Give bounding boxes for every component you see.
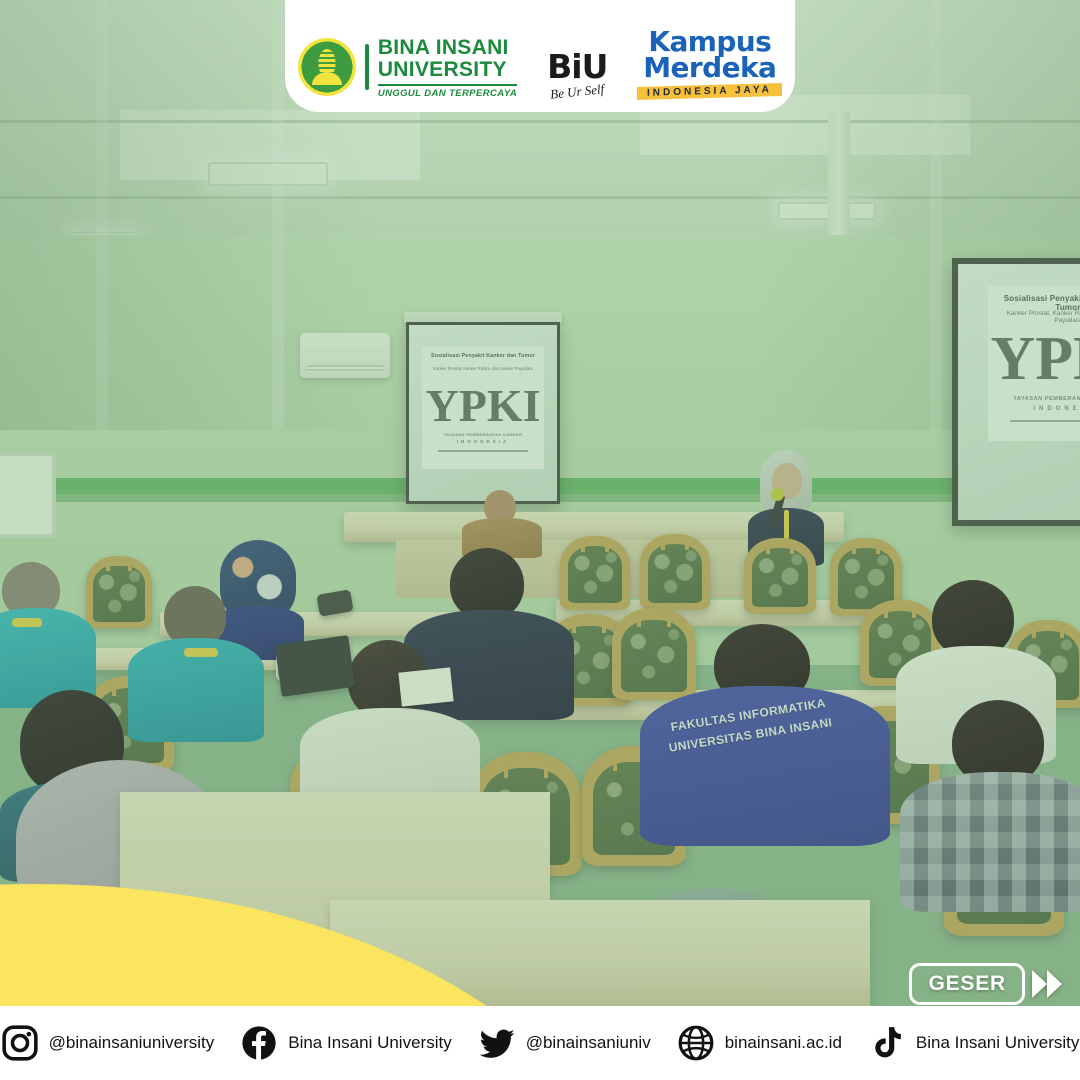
social-twitter[interactable]: @binainsaniuniv bbox=[478, 1024, 651, 1062]
university-logo: BINA INSANI UNIVERSITY UNGGUL DAN TERPER… bbox=[298, 37, 517, 99]
instagram-handle: @binainsaniuniversity bbox=[49, 1033, 215, 1053]
ypki-logo-sub2: INDONESIA bbox=[422, 439, 544, 444]
ypki-logo-sub1: YAYASAN PEMBERANTAS KANKER bbox=[988, 396, 1080, 402]
twitter-icon[interactable] bbox=[478, 1024, 516, 1062]
facebook-handle: Bina Insani University bbox=[288, 1033, 451, 1053]
university-wordmark: BINA INSANI UNIVERSITY UNGGUL DAN TERPER… bbox=[378, 37, 517, 99]
twitter-handle: @binainsaniuniv bbox=[526, 1033, 651, 1053]
chevron-right-icon bbox=[1032, 970, 1047, 998]
slide-title: Sosialisasi Penyakit Kanker dan Tumor bbox=[427, 354, 539, 360]
social-media-post: Sosialisasi Penyakit Kanker dan Tumor Ka… bbox=[0, 0, 1080, 1080]
header-logo-card: BINA INSANI UNIVERSITY UNGGUL DAN TERPER… bbox=[285, 0, 795, 112]
facebook-icon[interactable] bbox=[240, 1024, 278, 1062]
social-instagram[interactable]: @binainsaniuniversity bbox=[1, 1024, 215, 1062]
slide-divider bbox=[1010, 420, 1080, 422]
social-facebook[interactable]: Bina Insani University bbox=[240, 1024, 451, 1062]
bina-insani-crest-icon bbox=[298, 38, 356, 96]
kampus-merdeka-line2: Merdeka bbox=[637, 55, 782, 81]
website-url: binainsani.ac.id bbox=[725, 1033, 842, 1053]
tiktok-icon[interactable] bbox=[868, 1024, 906, 1062]
projection-screen-right: Sosialisasi Penyakit Kanker dan Tumor Ka… bbox=[952, 258, 1080, 526]
audience-person bbox=[900, 700, 1080, 900]
biu-wordmark: BiU bbox=[547, 50, 607, 83]
chevron-right-icon bbox=[1047, 970, 1062, 998]
social-website[interactable]: binainsani.ac.id bbox=[677, 1024, 842, 1062]
swipe-cta[interactable]: GESER bbox=[909, 963, 1062, 1005]
banquet-chair bbox=[744, 538, 816, 614]
audience-person-jacket: FAKULTAS INFORMATIKA UNIVERSITAS BINA IN… bbox=[640, 624, 890, 834]
university-name-line1: BINA INSANI bbox=[378, 37, 517, 58]
air-conditioner bbox=[300, 333, 390, 378]
instagram-icon[interactable] bbox=[1, 1024, 39, 1062]
kampus-merdeka-banner: INDONESIA JAYA bbox=[637, 83, 782, 100]
university-tagline: UNGGUL DAN TERPERCAYA bbox=[378, 84, 517, 99]
ypki-logo-text: YPKI bbox=[422, 385, 544, 426]
logo-divider bbox=[365, 44, 369, 90]
ypki-logo-sub1: YAYASAN PEMBERANTAS KANKER bbox=[422, 432, 544, 437]
ypki-logo-sub2: INDONESIA bbox=[988, 406, 1080, 412]
audience-person-teal bbox=[0, 562, 96, 702]
presentation-slide: Sosialisasi Penyakit Kanker dan Tumor Ka… bbox=[422, 347, 544, 469]
ypki-logo-text: YPKI bbox=[988, 332, 1080, 388]
lanyard bbox=[12, 618, 42, 627]
presentation-slide: Sosialisasi Penyakit Kanker dan Tumor Ka… bbox=[988, 286, 1080, 441]
ac-vent bbox=[306, 365, 384, 372]
laptop bbox=[275, 635, 356, 697]
footer-social-bar: @binainsaniuniversity Bina Insani Univer… bbox=[0, 1006, 1080, 1080]
university-name-line2: UNIVERSITY bbox=[378, 59, 517, 80]
lanyard bbox=[184, 648, 218, 657]
projection-screen-center: Sosialisasi Penyakit Kanker dan Tumor Ka… bbox=[406, 322, 560, 504]
kampus-merdeka-logo: Kampus Merdeka INDONESIA JAYA bbox=[637, 29, 782, 98]
social-tiktok[interactable]: Bina Insani University bbox=[868, 1024, 1079, 1062]
slide-subtitle: Kanker Prostat, Kanker Rahim, dan Kanker… bbox=[427, 367, 539, 372]
seminar-room-scene: Sosialisasi Penyakit Kanker dan Tumor Ka… bbox=[0, 0, 1080, 1006]
paper-notes bbox=[398, 667, 453, 706]
torso bbox=[900, 772, 1080, 912]
banquet-chair bbox=[640, 534, 710, 610]
seated-panelist bbox=[462, 490, 542, 552]
whiteboard bbox=[0, 452, 56, 538]
geser-button[interactable]: GESER bbox=[909, 963, 1025, 1005]
event-photo: Sosialisasi Penyakit Kanker dan Tumor Ka… bbox=[0, 0, 1080, 1006]
biu-logo: BiU Be Ur Self bbox=[547, 50, 607, 98]
microphone-head bbox=[771, 488, 784, 501]
slide-subtitle: Kanker Prostat, Kanker Rahim, dan Kanker… bbox=[994, 310, 1080, 325]
globe-icon[interactable] bbox=[677, 1024, 715, 1062]
slide-divider bbox=[438, 450, 528, 452]
tiktok-handle: Bina Insani University bbox=[916, 1033, 1079, 1053]
